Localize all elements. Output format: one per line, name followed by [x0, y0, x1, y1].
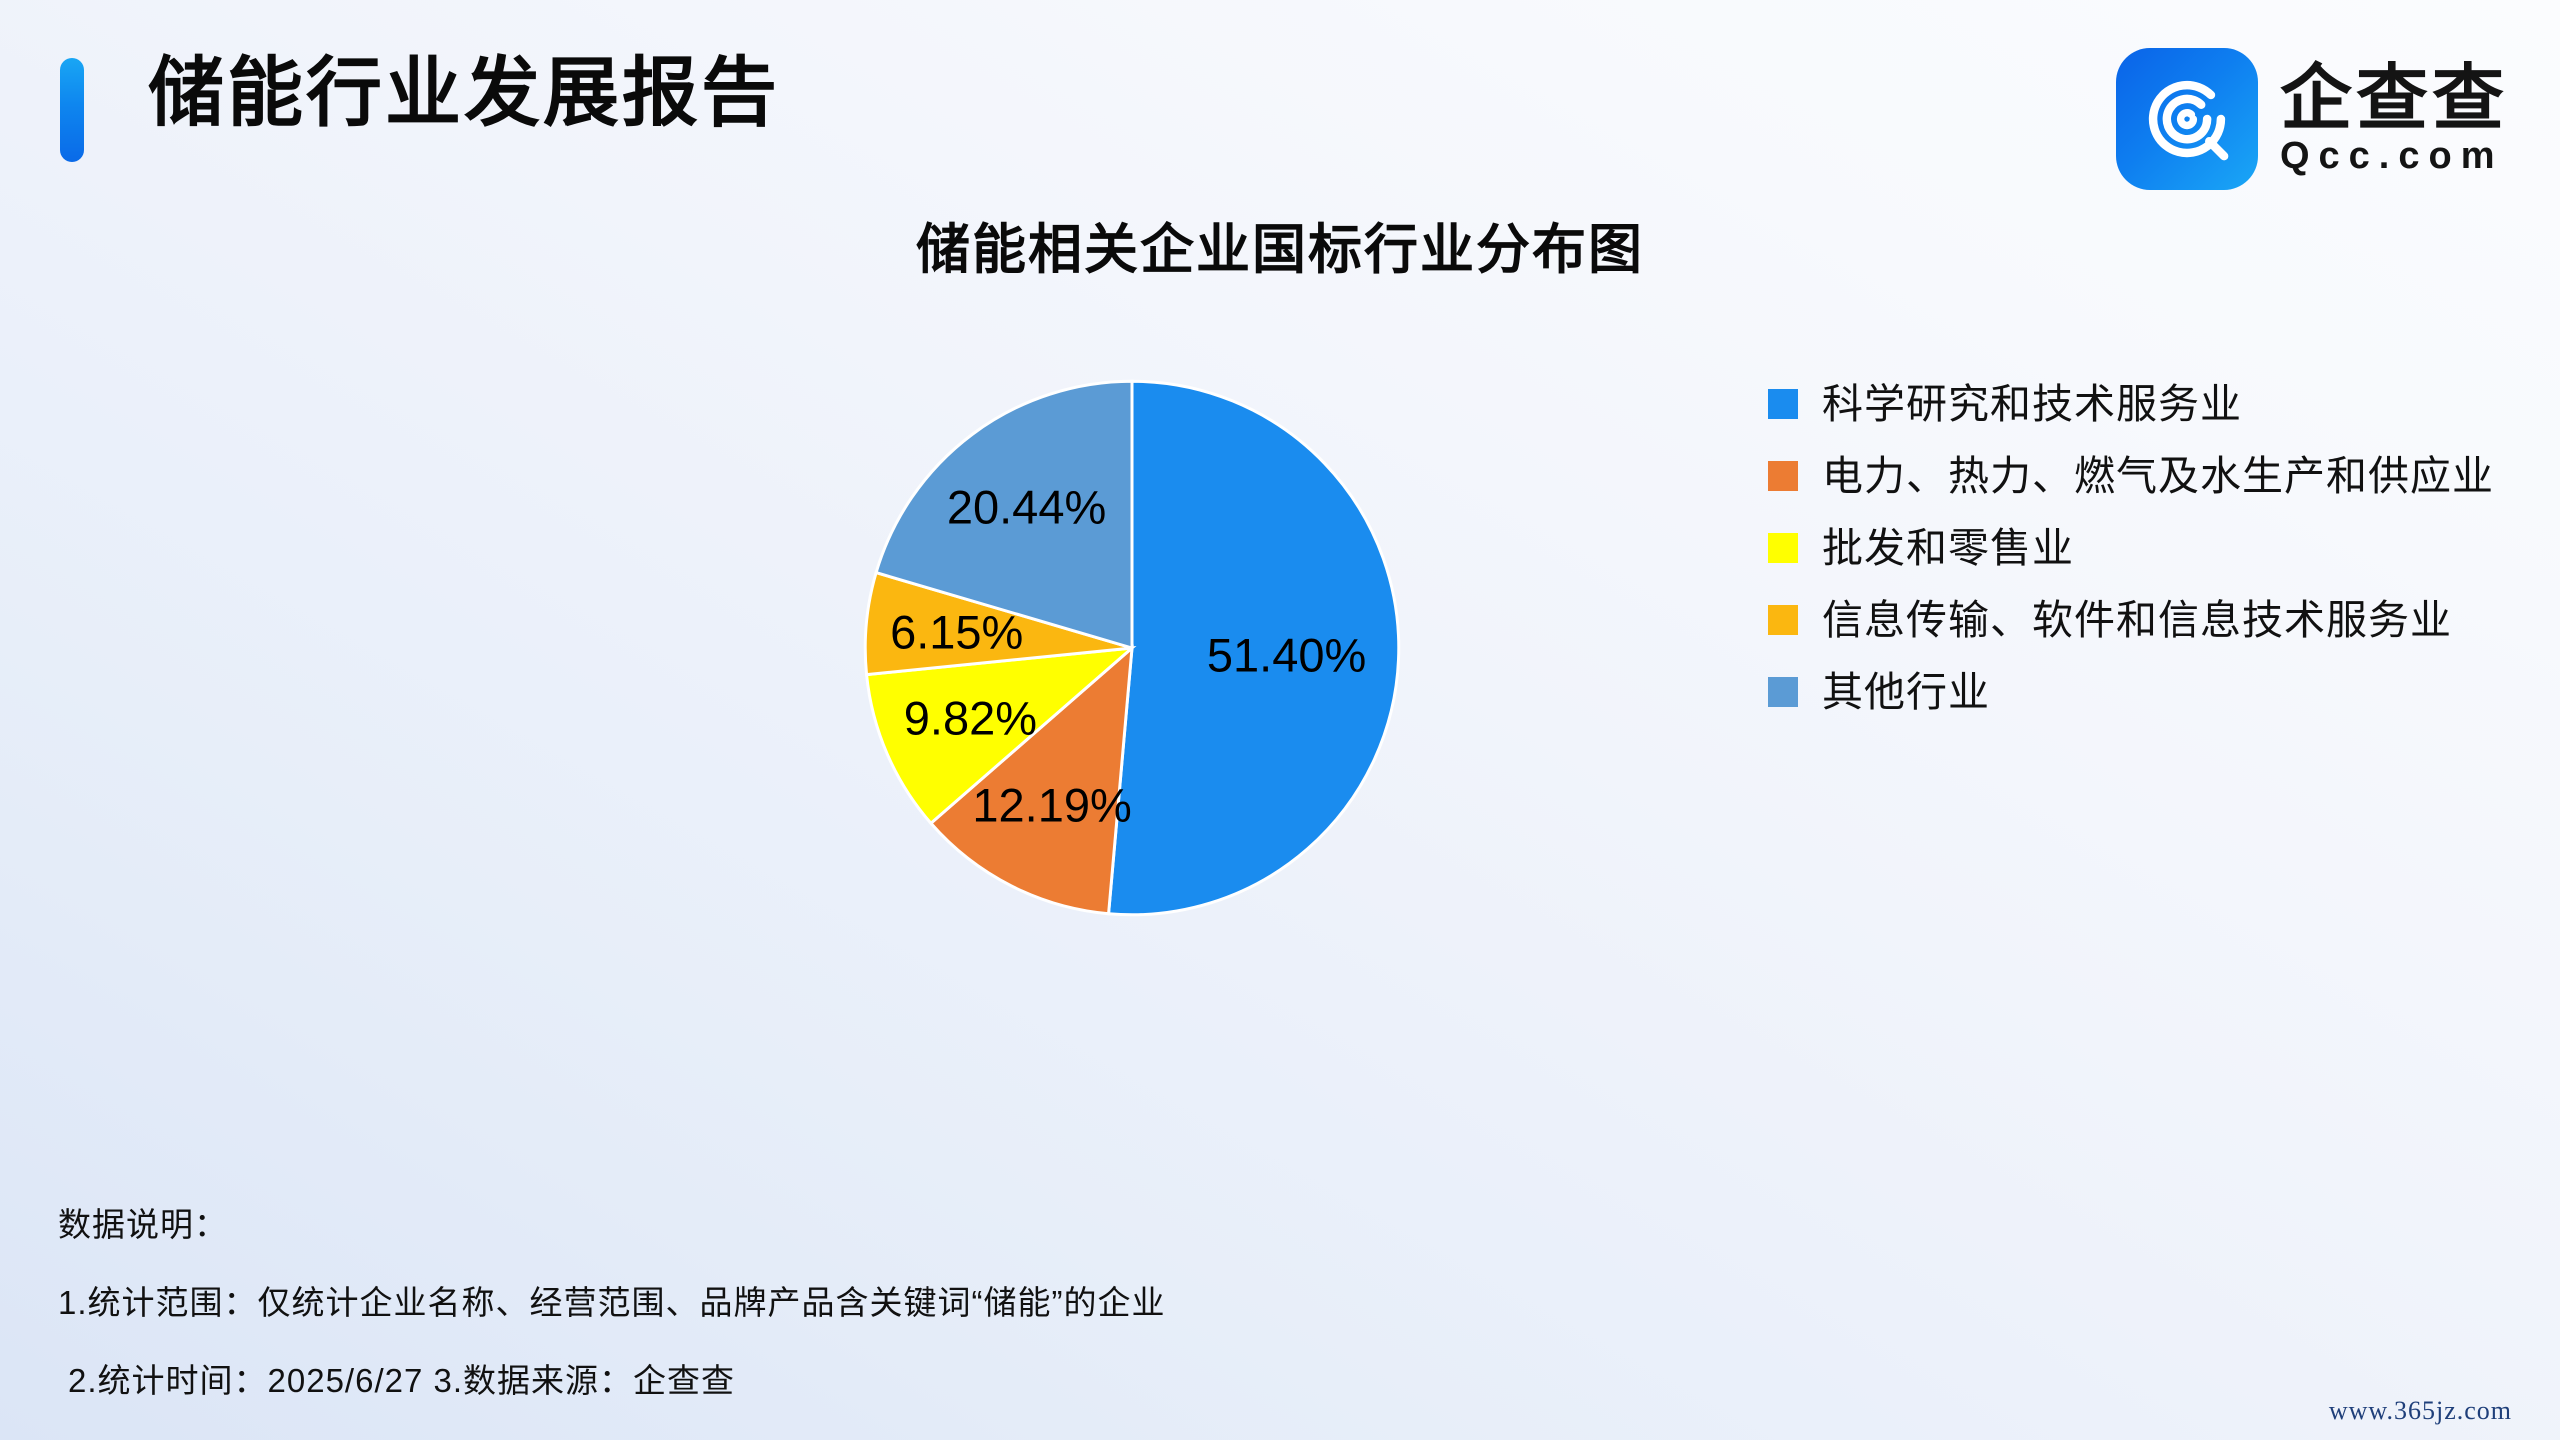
- notes-line-2: 2.统计时间：2025/6/27 3.数据来源：企查查: [58, 1354, 1166, 1402]
- brand-wordmark: 企查查 Qcc.com: [2280, 63, 2508, 175]
- brand-name-en: Qcc.com: [2280, 137, 2508, 175]
- brand-name-cn: 企查查: [2280, 63, 2508, 135]
- legend-label: 批发和零售业: [1822, 528, 2074, 569]
- pie-slice-label: 12.19%: [972, 777, 1131, 832]
- notes-heading: 数据说明：: [58, 1198, 1166, 1246]
- pie-slice-label: 6.15%: [890, 604, 1023, 659]
- legend-item[interactable]: 科学研究和技术服务业: [1768, 368, 2494, 440]
- legend-label: 电力、热力、燃气及水生产和供应业: [1822, 456, 2494, 497]
- watermark: www.365jz.com: [2329, 1396, 2512, 1426]
- legend-swatch: [1768, 389, 1798, 419]
- legend-label: 信息传输、软件和信息技术服务业: [1822, 600, 2452, 641]
- pie-slice-label: 9.82%: [904, 690, 1037, 745]
- legend-label: 其他行业: [1822, 672, 1990, 713]
- legend-swatch: [1768, 605, 1798, 635]
- qcc-logo-icon: [2116, 48, 2258, 190]
- chart-legend: 科学研究和技术服务业电力、热力、燃气及水生产和供应业批发和零售业信息传输、软件和…: [1768, 368, 2494, 728]
- legend-swatch: [1768, 677, 1798, 707]
- chart-title: 储能相关企业国标行业分布图: [0, 205, 2560, 284]
- legend-item[interactable]: 其他行业: [1768, 656, 2494, 728]
- legend-label: 科学研究和技术服务业: [1822, 384, 2242, 425]
- pie-slice-label: 20.44%: [947, 480, 1106, 535]
- legend-swatch: [1768, 533, 1798, 563]
- legend-swatch: [1768, 461, 1798, 491]
- pie-slice-label: 51.40%: [1207, 627, 1366, 682]
- brand-logo[interactable]: 企查查 Qcc.com: [2116, 48, 2508, 190]
- legend-item[interactable]: 电力、热力、燃气及水生产和供应业: [1768, 440, 2494, 512]
- legend-item[interactable]: 批发和零售业: [1768, 512, 2494, 584]
- notes-line-1: 1.统计范围：仅统计企业名称、经营范围、品牌产品含关键词“储能”的企业: [58, 1276, 1166, 1324]
- page-header: 储能行业发展报告 企查查 Qcc.com: [0, 0, 2560, 200]
- page-title: 储能行业发展报告: [148, 48, 780, 139]
- data-notes: 数据说明： 1.统计范围：仅统计企业名称、经营范围、品牌产品含关键词“储能”的企…: [58, 1198, 1166, 1402]
- title-accent-bar: [60, 58, 84, 162]
- legend-item[interactable]: 信息传输、软件和信息技术服务业: [1768, 584, 2494, 656]
